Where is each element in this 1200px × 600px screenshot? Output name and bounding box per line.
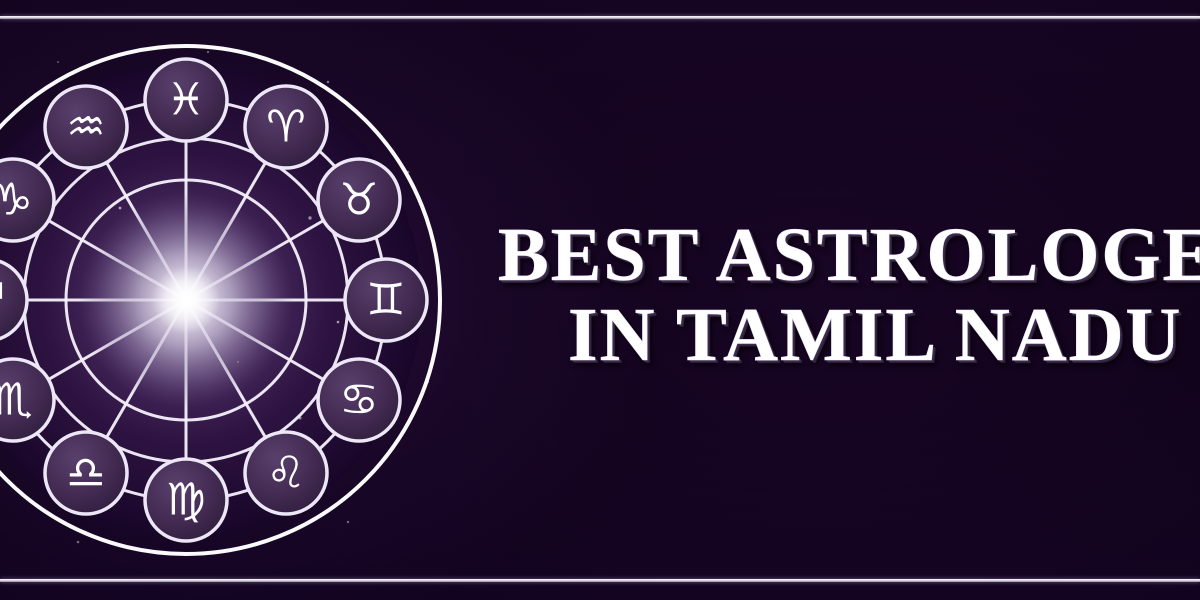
zodiac-glyph-aquarius: ♒ [66, 102, 105, 153]
zodiac-wheel: ♓ ♈ ♉ ♊ [0, 22, 464, 578]
zodiac-glyph-leo: ♌ [266, 448, 305, 499]
zodiac-badge-leo[interactable]: ♌ [245, 432, 327, 514]
zodiac-badge-cancer[interactable]: ♋ [318, 359, 400, 441]
zodiac-badge-libra[interactable]: ♎ [45, 432, 127, 514]
zodiac-badge-aquarius[interactable]: ♒ [45, 86, 127, 168]
zodiac-badge-gemini[interactable]: ♊ [345, 259, 427, 341]
zodiac-glyph-virgo: ♍ [166, 475, 205, 526]
top-divider-rule [0, 16, 1200, 19]
zodiac-glyph-taurus: ♉ [339, 175, 378, 226]
zodiac-glyph-scorpio: ♏ [0, 375, 33, 426]
zodiac-glyph-capricorn: ♑ [0, 175, 33, 226]
zodiac-glyph-pisces: ♓ [166, 75, 205, 126]
zodiac-glyph-aries: ♈ [266, 102, 305, 153]
wheel-core-hub [152, 266, 220, 334]
zodiac-glyph-sagittarius: ♐ [0, 275, 6, 326]
headline-line-2: In Tamil Nadu [472, 298, 1200, 372]
zodiac-badge-pisces[interactable]: ♓ [145, 59, 227, 141]
zodiac-badge-taurus[interactable]: ♉ [318, 159, 400, 241]
bottom-divider-rule [0, 579, 1200, 582]
zodiac-glyph-libra: ♎ [66, 448, 105, 499]
zodiac-glyph-gemini: ♊ [366, 275, 405, 326]
astrology-banner: ♓ ♈ ♉ ♊ [0, 0, 1200, 600]
banner-headline: Best Astrologer In Tamil Nadu [472, 218, 1200, 373]
zodiac-glyph-cancer: ♋ [339, 375, 378, 426]
zodiac-badge-aries[interactable]: ♈ [245, 86, 327, 168]
zodiac-badge-virgo[interactable]: ♍ [145, 459, 227, 541]
headline-line-1: Best Astrologer [472, 218, 1200, 292]
